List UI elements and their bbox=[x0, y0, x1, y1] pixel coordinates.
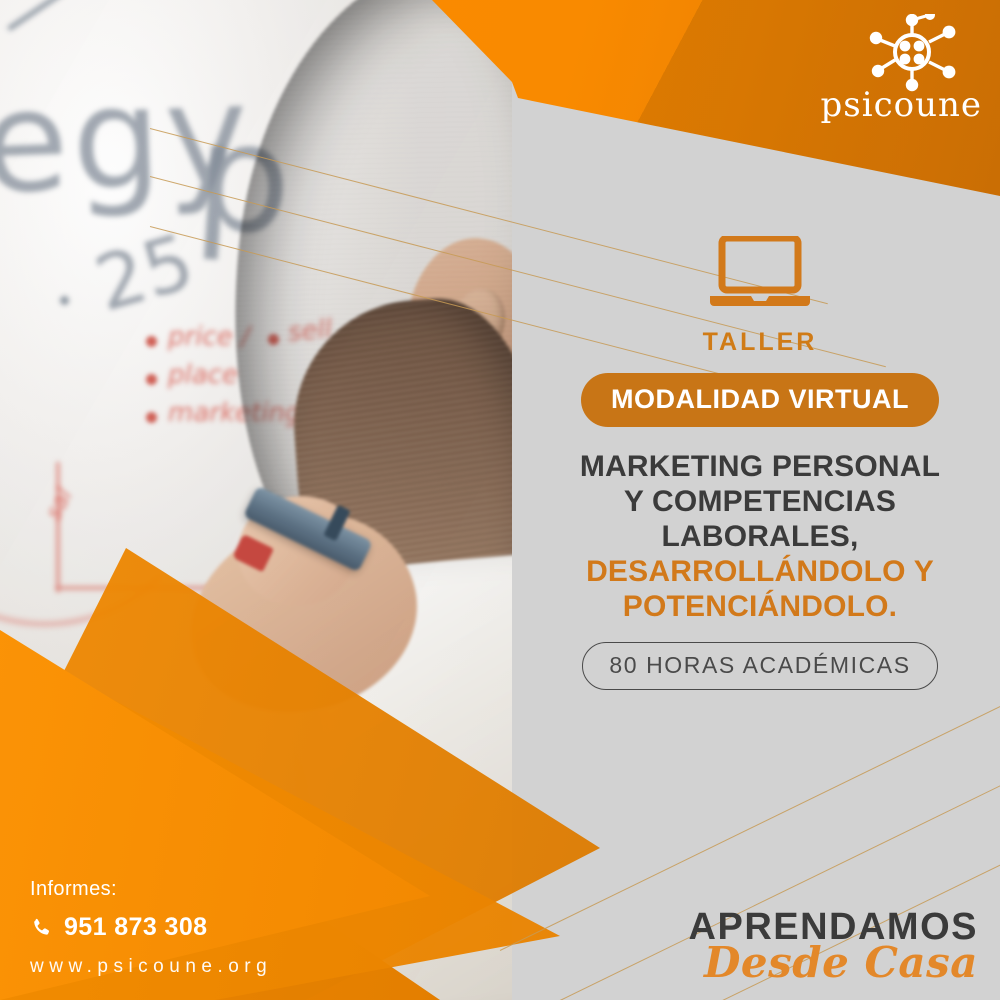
tagline-line-2: Desde Casa bbox=[689, 942, 978, 984]
modality-badge: MODALIDAD VIRTUAL bbox=[581, 373, 939, 427]
molecule-network-icon bbox=[812, 14, 982, 94]
phone-number: 951 873 308 bbox=[64, 913, 207, 942]
phone-row[interactable]: 951 873 308 bbox=[30, 913, 272, 942]
hours-pill-wrap: 80 HORAS ACADÉMICAS bbox=[540, 624, 980, 690]
poster-canvas: egy p 25 sal price / sell place marketin… bbox=[0, 0, 1000, 1000]
offer-content: TALLER MODALIDAD VIRTUAL MARKETING PERSO… bbox=[540, 236, 980, 690]
website-url[interactable]: www.psicoune.org bbox=[30, 956, 272, 978]
laptop-icon bbox=[708, 236, 812, 312]
modality-badge-wrap: MODALIDAD VIRTUAL bbox=[540, 373, 980, 449]
phone-icon bbox=[30, 917, 52, 939]
eyebrow-label: TALLER bbox=[540, 328, 980, 357]
contact-label: Informes: bbox=[30, 878, 272, 901]
title-line: LABORALES, bbox=[540, 519, 980, 554]
brand-logo[interactable]: psicoune bbox=[812, 14, 982, 126]
logo-wordmark: psicoune bbox=[812, 88, 982, 122]
title-line: Y COMPETENCIAS bbox=[540, 484, 980, 519]
title-line: MARKETING PERSONAL bbox=[540, 449, 980, 484]
course-title: MARKETING PERSONAL Y COMPETENCIAS LABORA… bbox=[540, 449, 980, 624]
hours-pill: 80 HORAS ACADÉMICAS bbox=[582, 642, 937, 690]
title-line-highlight: DESARROLLÁNDOLO Y bbox=[540, 554, 980, 589]
title-line-highlight: POTENCIÁNDOLO. bbox=[540, 589, 980, 624]
tagline-block: APRENDAMOS Desde Casa bbox=[689, 908, 978, 984]
contact-block: Informes: 951 873 308 www.psicoune.org bbox=[30, 878, 272, 978]
